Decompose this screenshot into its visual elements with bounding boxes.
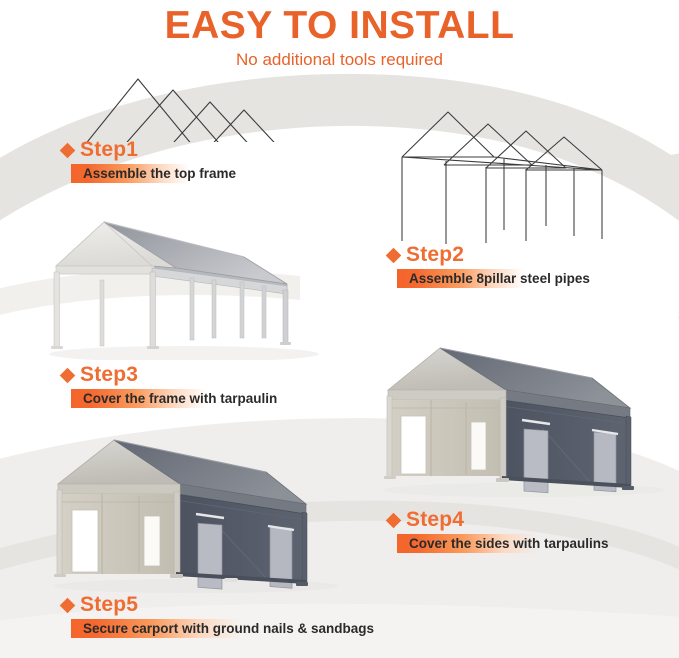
illustration-step2-frame-pillars <box>386 108 666 248</box>
diamond-bullet-icon <box>60 367 76 383</box>
step-caption-text-2: Assemble 8pillar steel pipes <box>397 269 590 288</box>
illustration-step5-carport-secured <box>44 428 344 596</box>
step-caption-4: Cover the sides with tarpaulins <box>397 534 609 553</box>
step-header-3: Step3 <box>62 363 277 387</box>
install-instructions-graphic: EASY TO INSTALL No additional tools requ… <box>0 0 679 658</box>
illustration-step4-carport-sidewalls <box>374 338 666 498</box>
step-name-3: Step3 <box>80 364 138 386</box>
step-header-5: Step5 <box>62 593 374 617</box>
step-caption-1: Assemble the top frame <box>71 164 236 183</box>
step-block-2: Step2 Assemble 8pillar steel pipes <box>388 243 590 288</box>
step-caption-text-3: Cover the frame with tarpaulin <box>71 389 277 408</box>
step-name-2: Step2 <box>406 244 464 266</box>
step-header-1: Step1 <box>62 138 236 162</box>
step-name-1: Step1 <box>80 139 138 161</box>
step-caption-text-4: Cover the sides with tarpaulins <box>397 534 609 553</box>
diamond-bullet-icon <box>60 597 76 613</box>
step-block-1: Step1 Assemble the top frame <box>62 138 236 183</box>
step-block-3: Step3 Cover the frame with tarpaulin <box>62 363 277 408</box>
step-caption-3: Cover the frame with tarpaulin <box>71 389 277 408</box>
step-caption-text-1: Assemble the top frame <box>71 164 236 183</box>
step-caption-2: Assemble 8pillar steel pipes <box>397 269 590 288</box>
illustration-step3-carport-roof <box>34 208 334 360</box>
step-name-4: Step4 <box>406 509 464 531</box>
step-caption-5: Secure carport with ground nails & sandb… <box>71 619 374 638</box>
step-header-4: Step4 <box>388 508 609 532</box>
illustration-step1-roof-trusses <box>62 64 302 142</box>
diamond-bullet-icon <box>386 512 402 528</box>
step-name-5: Step5 <box>80 594 138 616</box>
step-caption-text-5: Secure carport with ground nails & sandb… <box>71 619 374 638</box>
diamond-bullet-icon <box>60 142 76 158</box>
step-block-4: Step4 Cover the sides with tarpaulins <box>388 508 609 553</box>
page-title: EASY TO INSTALL <box>0 4 679 48</box>
step-block-5: Step5 Secure carport with ground nails &… <box>62 593 374 638</box>
diamond-bullet-icon <box>386 247 402 263</box>
step-header-2: Step2 <box>388 243 590 267</box>
header: EASY TO INSTALL No additional tools requ… <box>0 4 679 72</box>
